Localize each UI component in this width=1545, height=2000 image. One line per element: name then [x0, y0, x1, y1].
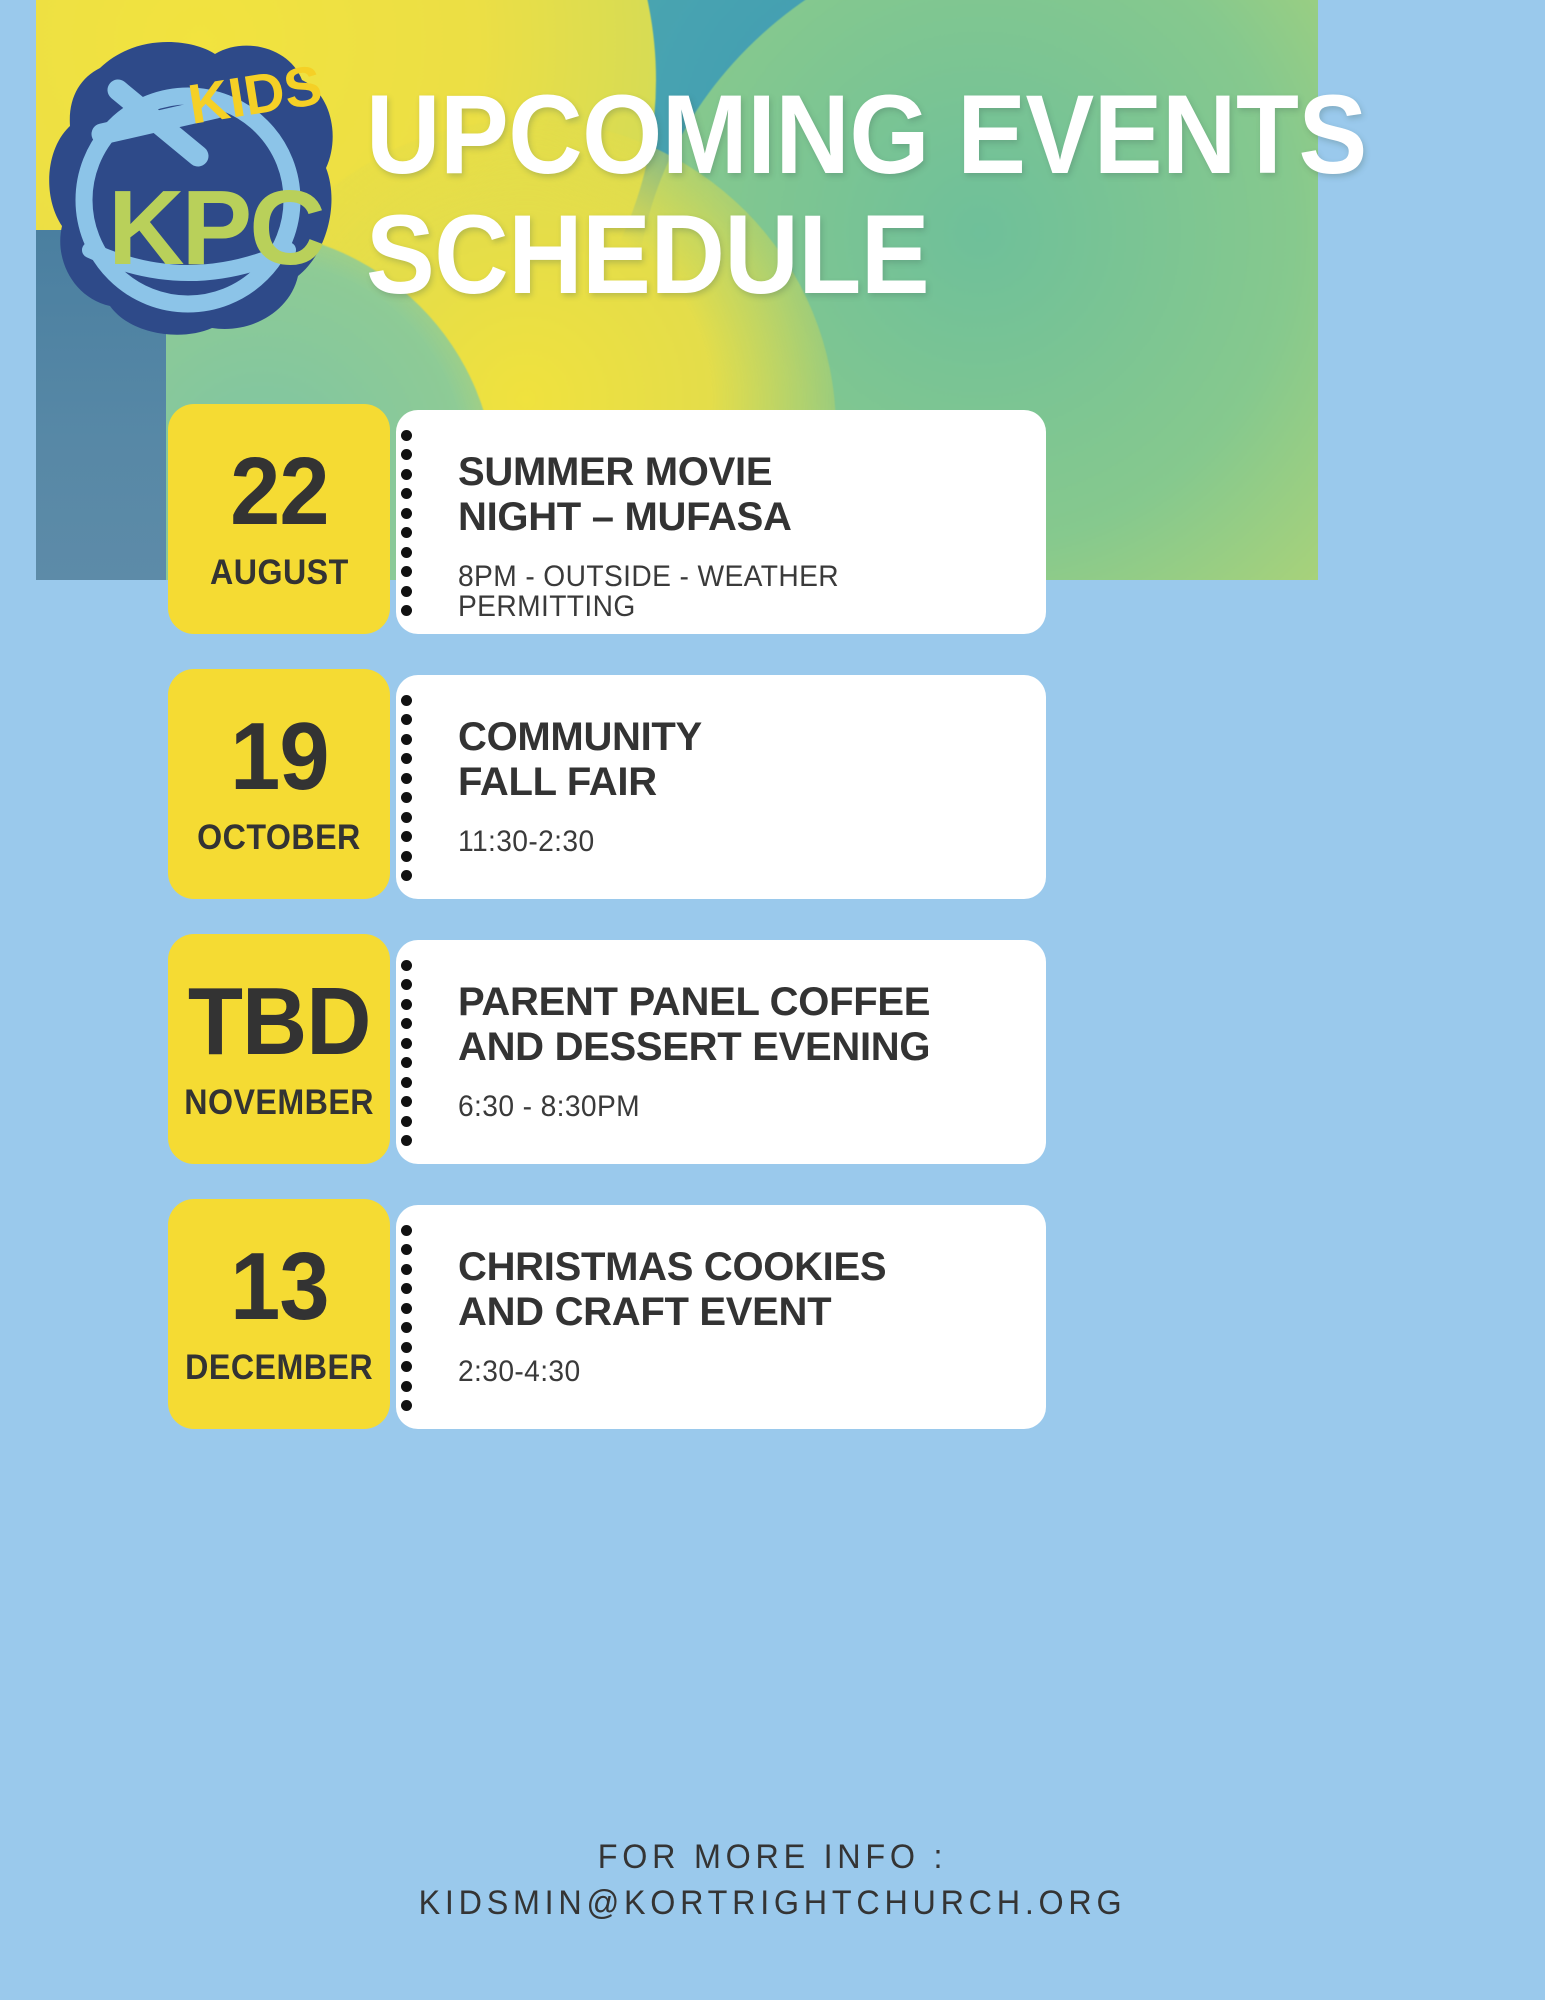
event-month: AUGUST [210, 555, 349, 590]
event-card: COMMUNITY FALL FAIR 11:30-2:30 [396, 675, 1046, 899]
event-title: COMMUNITY FALL FAIR [458, 715, 1046, 805]
event-day: TBD [188, 978, 371, 1066]
event-month: OCTOBER [197, 820, 361, 855]
event-title: PARENT PANEL COFFEE AND DESSERT EVENING [458, 980, 1046, 1070]
event-title: SUMMER MOVIE NIGHT – MUFASA [458, 450, 1046, 540]
event-day: 22 [230, 448, 328, 536]
event-card: SUMMER MOVIE NIGHT – MUFASA 8PM - OUTSID… [396, 410, 1046, 634]
logo-svg: KIDS KPC [40, 28, 336, 338]
event-row[interactable]: 19 OCTOBER COMMUNITY FALL FAIR 11:30-2:3… [0, 669, 1545, 899]
event-card: PARENT PANEL COFFEE AND DESSERT EVENING … [396, 940, 1046, 1164]
event-card: CHRISTMAS COOKIES AND CRAFT EVENT 2:30-4… [396, 1205, 1046, 1429]
footer-email[interactable]: KIDSMIN@KORTRIGHTCHURCH.ORG [39, 1881, 1507, 1927]
event-row[interactable]: 13 DECEMBER CHRISTMAS COOKIES AND CRAFT … [0, 1199, 1545, 1429]
event-subtitle: 2:30-4:30 [458, 1357, 1011, 1387]
logo-kpc-text: KPC [108, 169, 323, 287]
event-date-badge: 22 AUGUST [168, 404, 390, 634]
perforation-dots [400, 960, 412, 1146]
event-day: 19 [230, 713, 328, 801]
event-subtitle: 11:30-2:30 [458, 827, 1011, 857]
event-title: CHRISTMAS COOKIES AND CRAFT EVENT [458, 1245, 1046, 1335]
perforation-dots [400, 695, 412, 881]
event-date-badge: TBD NOVEMBER [168, 934, 390, 1164]
event-date-badge: 13 DECEMBER [168, 1199, 390, 1429]
events-list: 22 AUGUST SUMMER MOVIE NIGHT – MUFASA 8P… [0, 404, 1545, 1464]
perforation-dots [400, 1225, 412, 1411]
title-line-2: SCHEDULE [366, 202, 1139, 308]
event-subtitle: 6:30 - 8:30PM [458, 1092, 1011, 1122]
event-row[interactable]: TBD NOVEMBER PARENT PANEL COFFEE AND DES… [0, 934, 1545, 1164]
event-date-badge: 19 OCTOBER [168, 669, 390, 899]
title-line-1: UPCOMING EVENTS [366, 82, 1139, 188]
event-subtitle: 8PM - OUTSIDE - WEATHER PERMITTING [458, 562, 1011, 622]
perforation-dots [400, 430, 412, 616]
event-month: DECEMBER [185, 1350, 373, 1385]
event-row[interactable]: 22 AUGUST SUMMER MOVIE NIGHT – MUFASA 8P… [0, 404, 1545, 634]
footer-contact: FOR MORE INFO : KIDSMIN@KORTRIGHTCHURCH.… [0, 1835, 1545, 1927]
event-month: NOVEMBER [184, 1085, 374, 1120]
kpc-kids-logo: KIDS KPC [40, 28, 336, 338]
footer-info-label: FOR MORE INFO : [39, 1835, 1507, 1881]
event-day: 13 [230, 1243, 328, 1331]
page-title: UPCOMING EVENTS SCHEDULE [366, 82, 1206, 309]
